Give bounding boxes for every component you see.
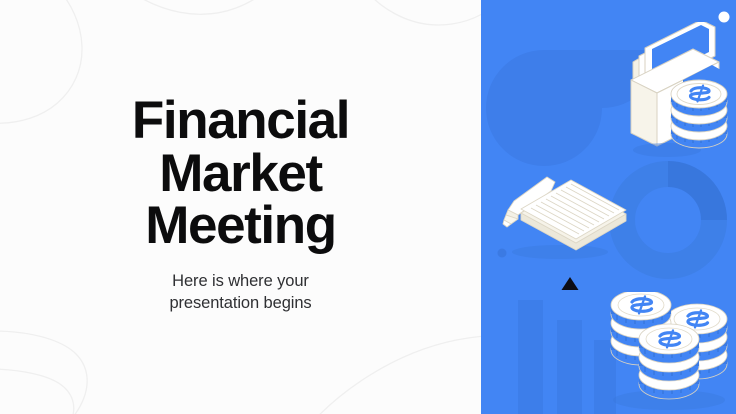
triangle-marker [562,277,579,290]
dollar-sign-icon [690,86,709,102]
bar-chart-shape [518,300,616,414]
coin-stacks-illustration [605,292,736,414]
bar-2 [557,320,582,414]
dollar-sign-icon [660,330,680,347]
wallet-with-coin-stack-illustration [611,22,733,162]
coin-stack-front-center [639,324,699,399]
presentation-slide: Financial Market Meeting Here is where y… [0,0,736,414]
donut-ring-shape [622,174,714,266]
page-title: Financial Market Meeting [76,95,406,252]
notepad-with-pencil-illustration [494,164,629,264]
page-subtitle: Here is where your presentation begins [131,271,351,315]
dollar-sign-icon [688,310,708,327]
title-text-block: Financial Market Meeting Here is where y… [0,0,481,414]
dollar-sign-icon [632,296,652,313]
dot-white-small [719,12,730,23]
coin-stack-small [671,80,727,148]
bar-1 [518,300,543,414]
title-panel: Financial Market Meeting Here is where y… [0,0,481,414]
illustration-panel [481,0,736,414]
